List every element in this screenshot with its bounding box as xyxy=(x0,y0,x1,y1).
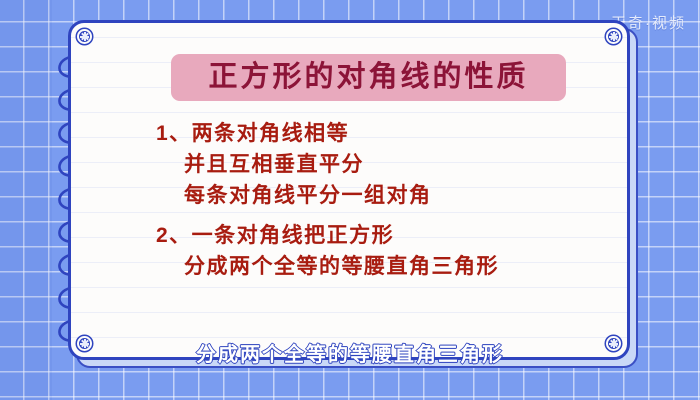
list-item: 2、一条对角线把正方形 分成两个全等的等腰直角三角形 xyxy=(156,220,616,282)
list-item-line: 每条对角线平分一组对角 xyxy=(156,180,616,211)
page-title: 正方形的对角线的性质 xyxy=(208,63,528,92)
list-item-line: 1、两条对角线相等 xyxy=(156,118,616,149)
notebook-scene: 天奇·视频 xyxy=(0,0,700,400)
eyelet-stud-icon-top-left xyxy=(77,29,92,44)
notebook-page: 正方形的对角线的性质 1、两条对角线相等 并且互相垂直平分 每条对角线平分一组对… xyxy=(68,20,630,360)
properties-list: 1、两条对角线相等 并且互相垂直平分 每条对角线平分一组对角 2、一条对角线把正… xyxy=(156,118,616,291)
eyelet-stud-icon-top-right xyxy=(606,29,621,44)
list-item-line: 分成两个全等的等腰直角三角形 xyxy=(156,251,616,282)
title-banner: 正方形的对角线的性质 xyxy=(171,54,566,101)
list-item-line: 2、一条对角线把正方形 xyxy=(156,220,616,251)
video-subtitle-caption: 分成两个全等的等腰直角三角形 xyxy=(0,338,700,367)
list-item-line: 并且互相垂直平分 xyxy=(156,149,616,180)
list-item: 1、两条对角线相等 并且互相垂直平分 每条对角线平分一组对角 xyxy=(156,118,616,211)
